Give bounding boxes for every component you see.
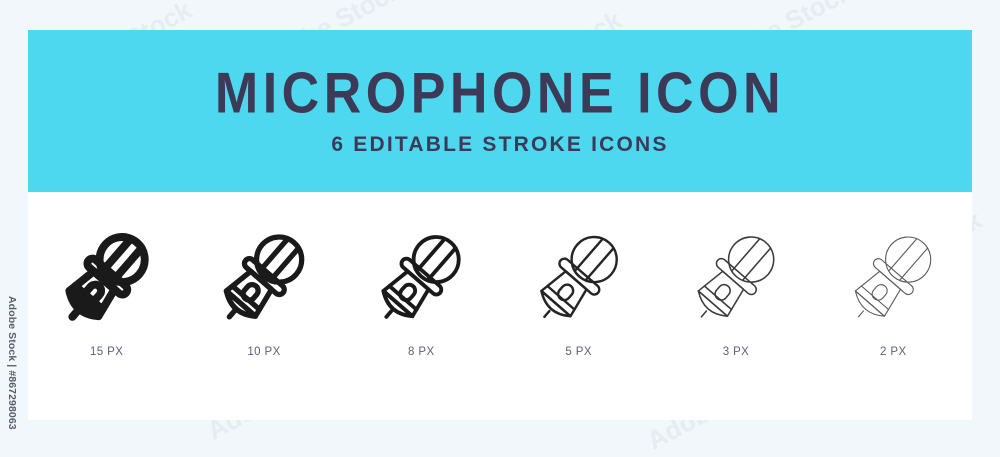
- microphone-icon: [52, 222, 162, 332]
- icon-set-card: MICROPHONE ICON 6 EDITABLE STROKE ICONS: [28, 30, 972, 420]
- icon-size-label: 15 PX: [90, 346, 123, 358]
- icon-cell[interactable]: 8 PX: [346, 222, 496, 358]
- icon-cell[interactable]: 10 PX: [189, 222, 339, 358]
- page-subtitle: 6 EDITABLE STROKE ICONS: [331, 134, 668, 155]
- microphone-icon: [366, 222, 476, 332]
- microphone-icon: [524, 222, 634, 332]
- header-banner: MICROPHONE ICON 6 EDITABLE STROKE ICONS: [28, 30, 972, 192]
- icon-cell[interactable]: 5 PX: [504, 222, 654, 358]
- page-title: MICROPHONE ICON: [215, 65, 785, 122]
- microphone-icon: [681, 222, 791, 332]
- icon-size-label: 2 PX: [880, 346, 907, 358]
- icon-cell[interactable]: 15 PX: [32, 222, 182, 358]
- icon-size-label: 8 PX: [408, 346, 435, 358]
- stock-credit-label: Adobe Stock | #867298063: [2, 296, 18, 446]
- microphone-icon: [838, 222, 948, 332]
- icon-cell[interactable]: 2 PX: [818, 222, 968, 358]
- icon-cell[interactable]: 3 PX: [661, 222, 811, 358]
- icon-size-label: 3 PX: [723, 346, 750, 358]
- icon-size-label: 5 PX: [565, 346, 592, 358]
- icon-size-label: 10 PX: [247, 346, 280, 358]
- icon-grid: 15 PX: [28, 192, 972, 420]
- stock-photo-canvas: Adobe Stock Adobe Stock Adobe Stock Adob…: [0, 0, 1000, 450]
- microphone-icon: [209, 222, 319, 332]
